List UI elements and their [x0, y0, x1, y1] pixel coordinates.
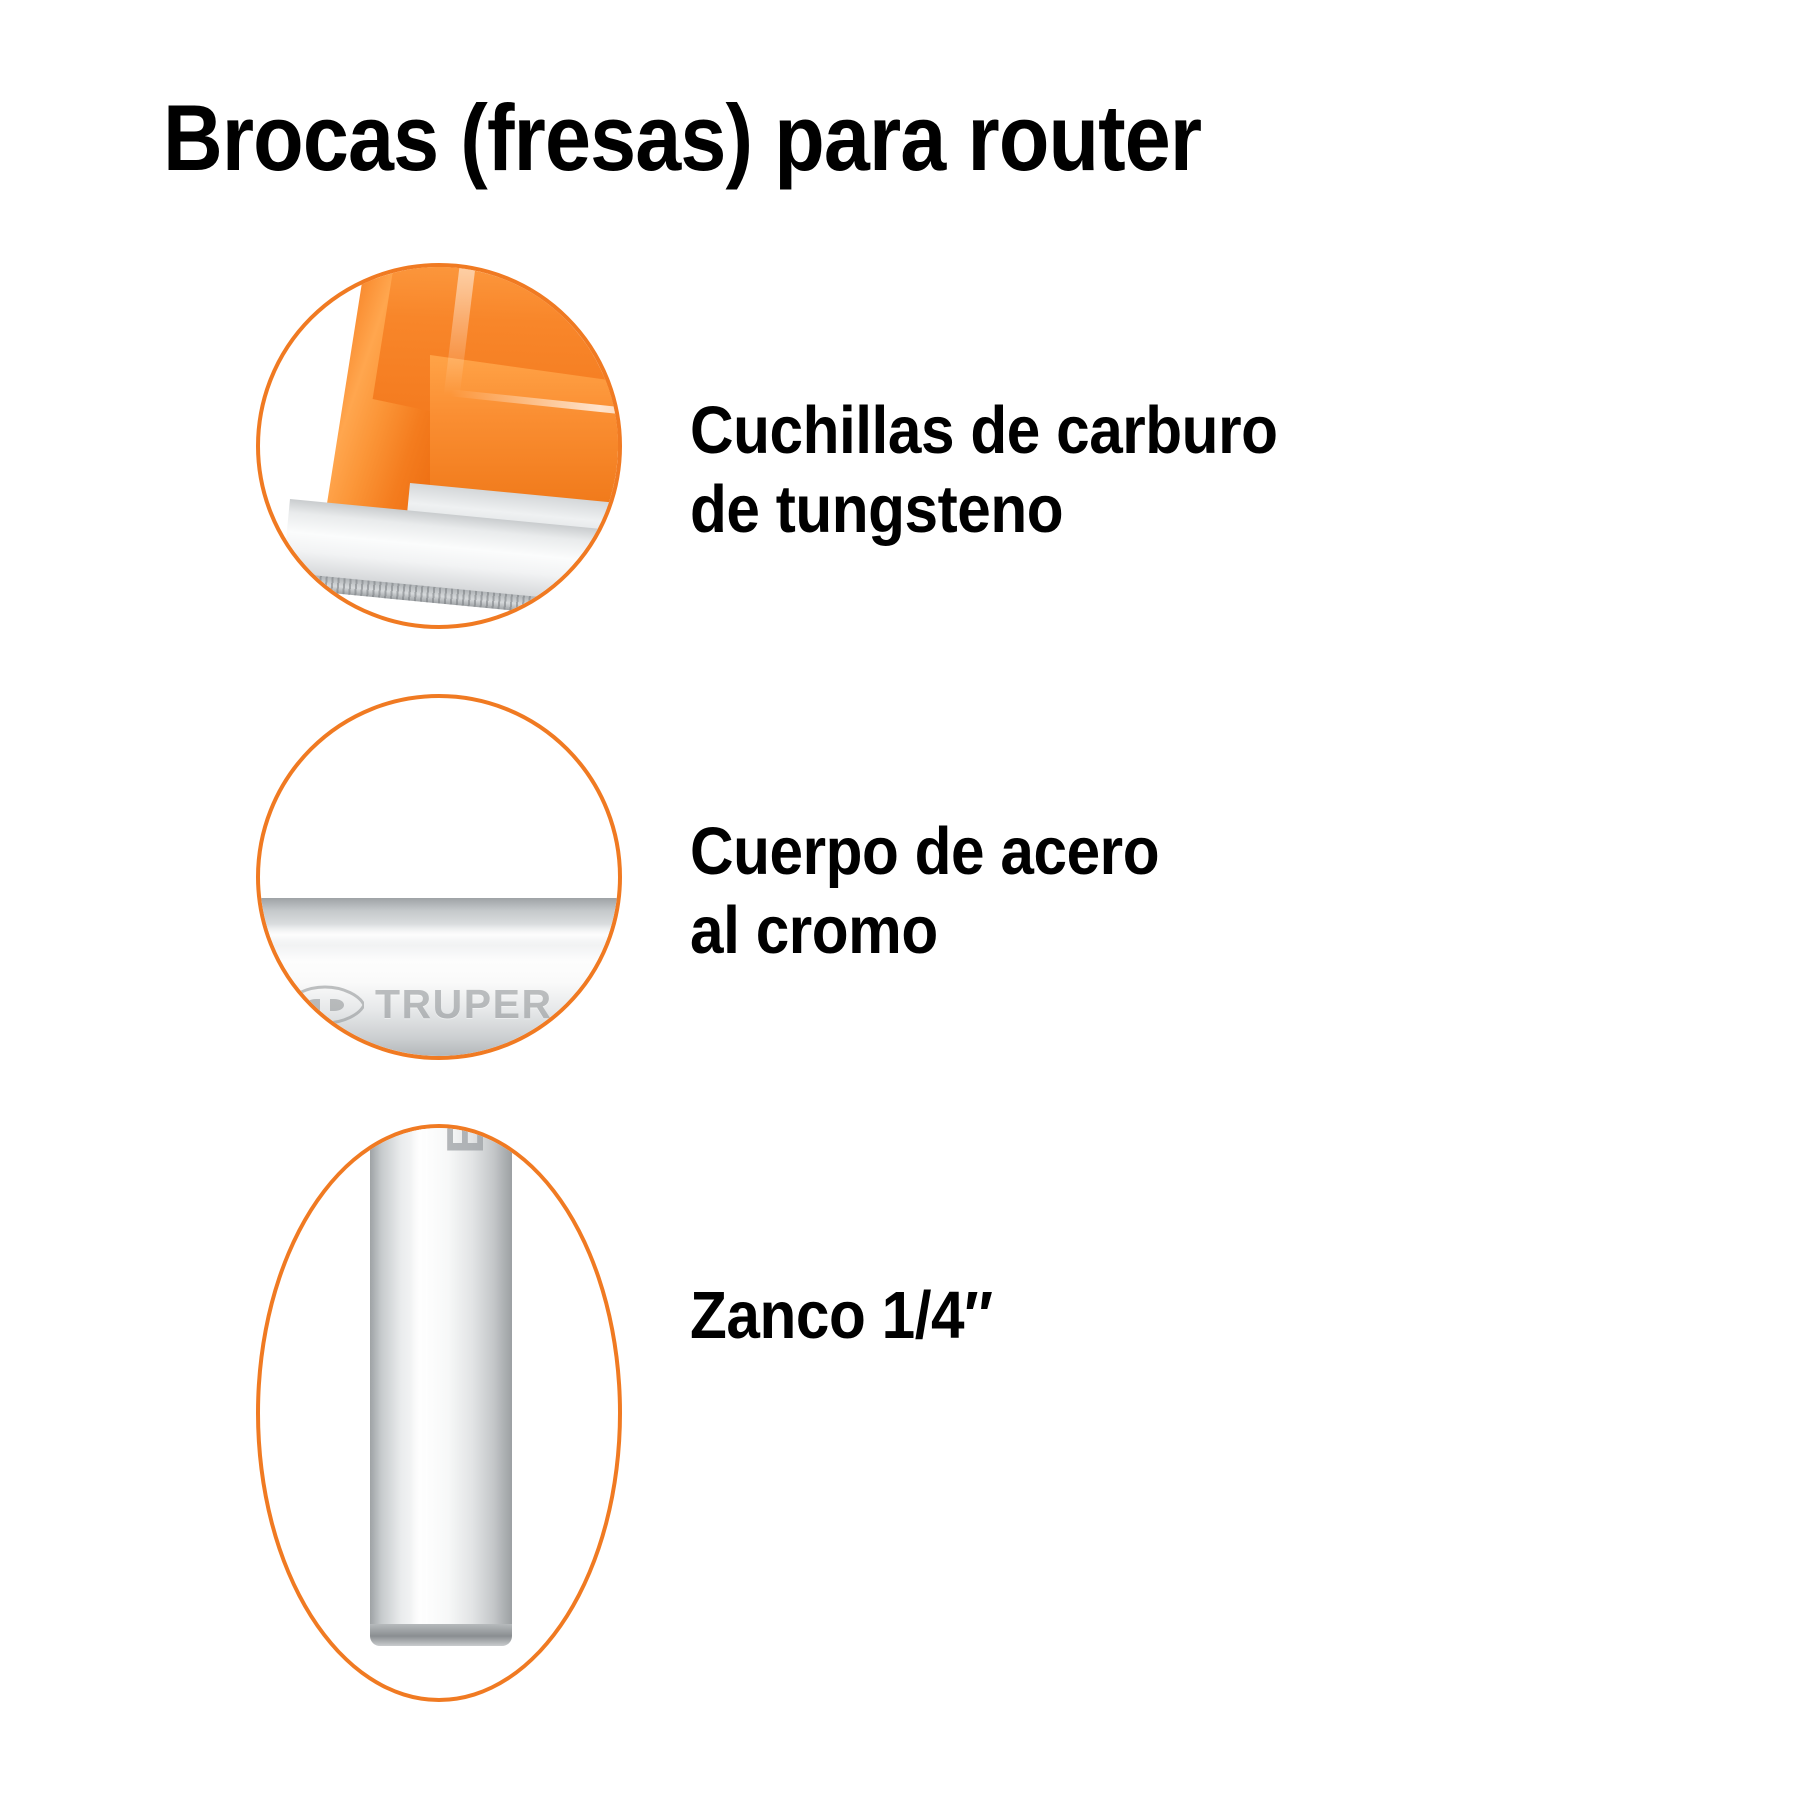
feature-label-carbide-cutters: Cuchillas de carburo de tungsteno: [690, 391, 1277, 549]
truper-brand-mark: TRUPER: [286, 984, 553, 1025]
feature-label-chrome-body: Cuerpo de acero al cromo: [690, 812, 1159, 970]
shank-partial-brand-text: ER: [436, 1128, 496, 1154]
truper-brand-text: TRUPER: [375, 984, 553, 1025]
shank-illustration: ER: [260, 1128, 618, 1698]
product-infographic: Brocas (fresas) para router Cuchillas de…: [0, 0, 1800, 1800]
feature-image-shank: ER: [256, 1124, 622, 1702]
chrome-body-illustration: TRUPER: [260, 698, 618, 1056]
feature-image-chrome-body: TRUPER: [256, 694, 622, 1060]
shank-tip: [370, 1624, 512, 1646]
feature-image-carbide-cutters: [256, 263, 622, 629]
carbide-cutter-illustration: [260, 267, 618, 625]
truper-emblem-icon: [286, 985, 364, 1025]
shank-highlight: [410, 1128, 430, 1644]
shank-cylinder: [370, 1128, 512, 1644]
chrome-cylinder: [260, 898, 618, 1056]
page-title: Brocas (fresas) para router: [163, 88, 1201, 188]
chrome-cylinder-highlight: [260, 924, 618, 946]
feature-label-shank: Zanco 1/4″: [690, 1276, 993, 1355]
